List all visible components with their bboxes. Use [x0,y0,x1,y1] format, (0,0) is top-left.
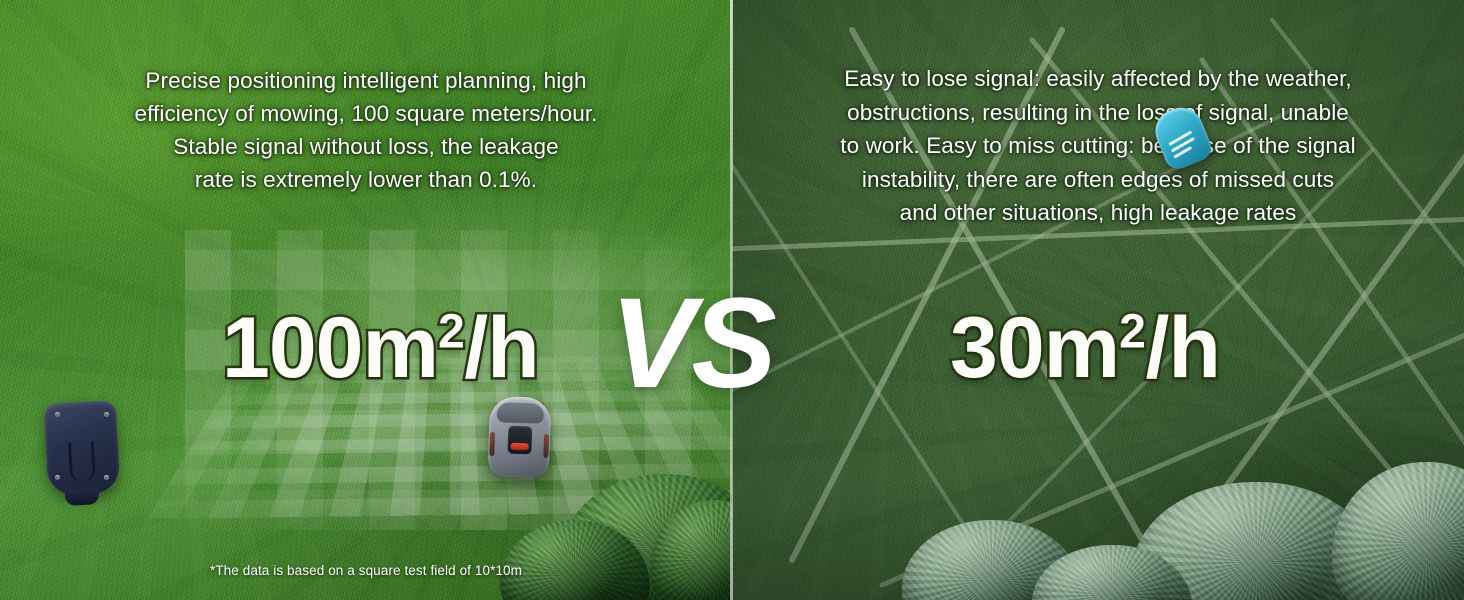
dock-screw [104,412,109,417]
mower-display-panel [507,426,532,455]
panel-divider [730,0,733,600]
drawback-panel [732,0,1464,600]
grass-texture-overlay-left-2 [0,0,732,600]
dock-screw [55,475,60,480]
grass-texture-overlay-right-2 [732,0,1464,600]
dock-screw [104,475,109,480]
mower-side-trim [543,434,549,458]
mower-side-trim [489,432,495,456]
mower-hood [497,402,545,424]
comparison-banner: Precise positioning intelligent planning… [0,0,1464,600]
advantage-panel [0,0,732,600]
mower-stop-button [510,443,528,451]
charging-dock-station [46,402,118,494]
robotic-lawn-mower-grey [488,396,552,478]
dock-screw [55,412,60,417]
dock-guide-groove [68,442,96,483]
